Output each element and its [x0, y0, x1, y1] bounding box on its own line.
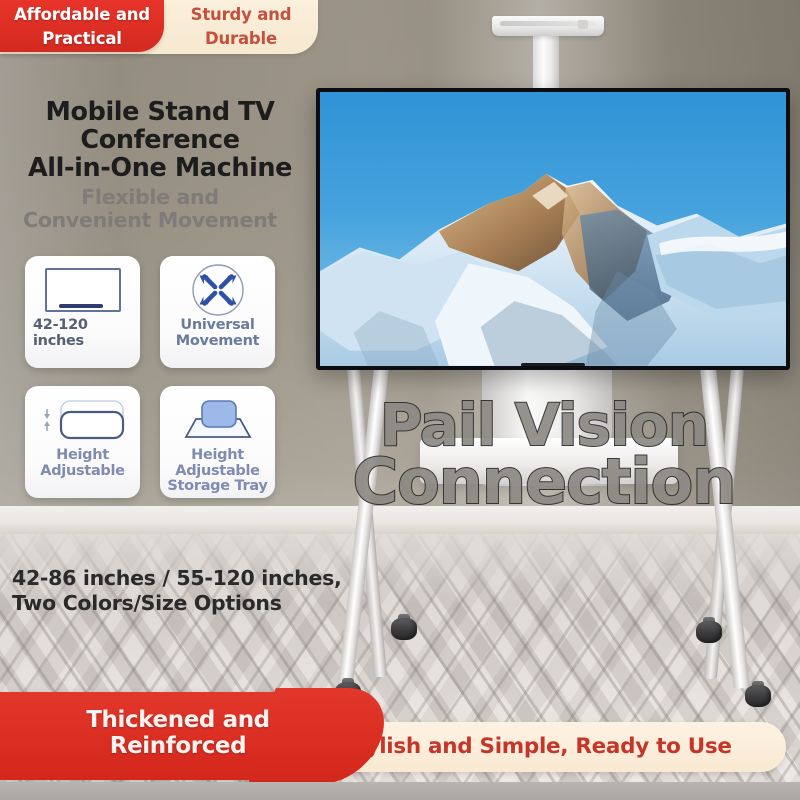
height-adjust-icon [25, 392, 140, 448]
card-label-line-3: Storage Tray [160, 479, 275, 495]
spec-line-2: Two Colors/Size Options [12, 591, 412, 616]
size-spec-copy: 42-86 inches / 55-120 inches, Two Colors… [12, 566, 412, 616]
tv-bezel-foot [521, 363, 585, 366]
banner-thickened-text: Thickened and Reinforced [0, 692, 358, 760]
subheadline-line-2: Convenient Movement [10, 209, 290, 232]
card-label-line-1: Universal [160, 318, 275, 334]
ribbon-affordable-practical: Affordable and Practical [0, 0, 164, 52]
four-way-arrows-icon [160, 262, 275, 318]
feature-card-storage-label: Height Adjustable Storage Tray [160, 448, 275, 495]
banner-thickened-line-1: Thickened and [0, 708, 358, 734]
tv-screen-icon [25, 262, 140, 318]
tv-screen [320, 92, 786, 366]
card-label-line-1: Height [160, 448, 275, 464]
storage-tray-icon [160, 392, 275, 448]
feature-card-universal-label: Universal Movement [160, 318, 275, 349]
product-ad-image: Pail Vision Connection Sturdy and Durabl… [0, 0, 800, 800]
camera-lens-icon [578, 20, 588, 29]
feature-card-universal-movement: Universal Movement [160, 256, 275, 368]
tv-display-panel [316, 88, 790, 370]
product-headline: Mobile Stand TV Conference All-in-One Ma… [10, 98, 310, 182]
caster-wheel [389, 614, 419, 644]
card-label-line-2: Movement [160, 334, 275, 350]
feature-card-storage-tray: Height Adjustable Storage Tray [160, 386, 275, 498]
tv-screen-icon-base [59, 304, 103, 308]
storage-tray [420, 438, 678, 484]
card-label-line-2: Adjustable [160, 464, 275, 480]
product-subheadline: Flexible and Convenient Movement [10, 186, 290, 232]
feature-card-height-label: Height Adjustable [25, 448, 140, 479]
banner-thickened-line-2: Reinforced [0, 734, 358, 760]
caster-wheel [743, 681, 773, 711]
headline-line-1: Mobile Stand TV [10, 98, 310, 126]
ribbon-affordable-line-1: Affordable and [0, 0, 164, 24]
bottom-floor-strip [0, 782, 800, 800]
subheadline-line-1: Flexible and [10, 186, 290, 209]
card-label-line-2: Adjustable [25, 464, 140, 480]
card-label-line-1: Height [25, 448, 140, 464]
banner-thickened-reinforced: Thickened and Reinforced [0, 692, 358, 780]
feature-card-height-adjustable: Height Adjustable [25, 386, 140, 498]
spec-line-1: 42-86 inches / 55-120 inches, [12, 566, 412, 591]
headline-line-3: All-in-One Machine [10, 154, 310, 182]
caster-wheel [694, 617, 724, 647]
feature-card-size: 42-120 inches [25, 256, 140, 368]
card-label-line-1: 42-120 [33, 318, 140, 334]
ribbon-affordable-line-2: Practical [0, 24, 164, 48]
headline-line-2: Conference [10, 126, 310, 154]
feature-card-size-label: 42-120 inches [25, 318, 140, 349]
card-label-line-2: inches [33, 334, 140, 350]
mountain-photo [320, 152, 786, 366]
